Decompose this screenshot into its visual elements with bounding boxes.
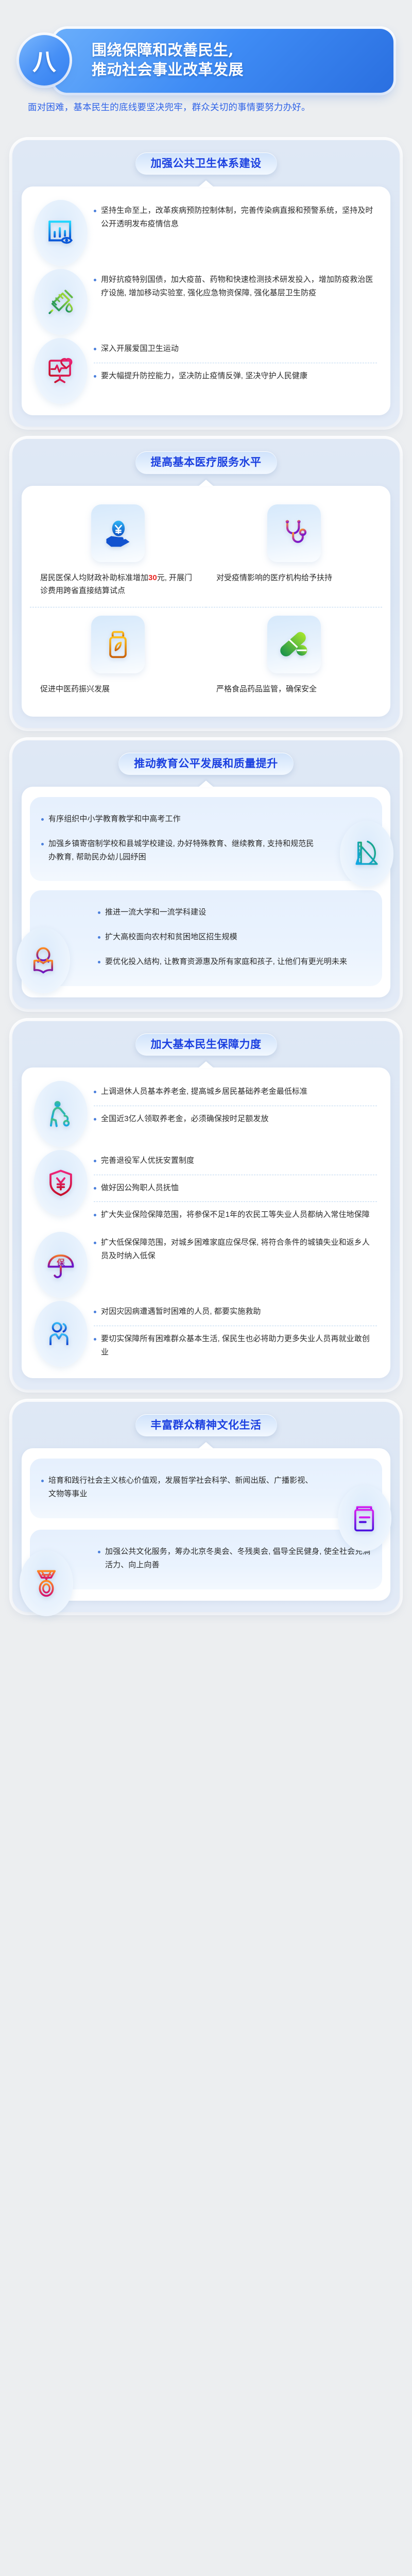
page-title-line1: 围绕保障和改善民生, bbox=[92, 41, 244, 60]
bullet: 深入开展爱国卫生运动 bbox=[94, 336, 377, 363]
icon-slot bbox=[16, 927, 70, 993]
icon-slot bbox=[30, 1147, 92, 1216]
bullet-dot-icon bbox=[98, 911, 100, 914]
bullet: 做好因公殉职人员抚恤 bbox=[94, 1175, 377, 1202]
infographic-page: 围绕保障和改善民生, 推动社会事业改革发展 八 面对困难，基本民生的底线要坚决兜… bbox=[0, 0, 412, 1630]
bullet-dot-icon bbox=[94, 348, 96, 350]
bullet: 要切实保障所有困难群众基本生活, 保民生也必将助力更多失业人员再就业敢创业 bbox=[94, 1326, 377, 1366]
bullet-dot-icon bbox=[98, 1551, 100, 1553]
cell-text: 对受疫情影响的医疗机构给予扶持 bbox=[213, 571, 375, 585]
page-title: 围绕保障和改善民生, 推动社会事业改革发展 bbox=[92, 41, 244, 79]
education-text-box-a: 有序组织中小学教育教学和中高考工作 加强乡镇寄宿制学校和县城学校建设, 办好特殊… bbox=[30, 797, 382, 881]
bullet-dot-icon bbox=[94, 1187, 96, 1190]
bullet-dot-icon bbox=[94, 1242, 96, 1244]
bullet: 加强乡镇寄宿制学校和县城学校建设, 办好特殊教育、继续教育, 支持和规范民办教育… bbox=[41, 832, 320, 870]
section-education: 推动教育公平发展和质量提升 有序组织中小学教育教学和中高考工作 加强乡镇寄宿制学… bbox=[12, 740, 400, 1009]
item-text-group: 深入开展爱国卫生运动 要大幅提升防控能力，坚决防止疫情反弹, 坚决守护人民健康 bbox=[94, 335, 382, 390]
item-text-group: 对因灾因病遭遇暂时困难的人员, 都要实施救助 要切实保障所有困难群众基本生活, … bbox=[94, 1298, 382, 1366]
bullet-text: 上调退休人员基本养老金, 提高城乡居民基础养老金最低标准 bbox=[101, 1085, 307, 1098]
section-header-pill-5: 丰富群众精神文化生活 bbox=[135, 1414, 277, 1436]
page-header: 围绕保障和改善民生, 推动社会事业改革发展 八 bbox=[0, 0, 412, 93]
section-header-pill-1: 加强公共卫生体系建设 bbox=[135, 152, 277, 175]
bullet-text: 要优化投入结构, 让教育资源惠及所有家庭和孩子, 让他们有更光明未来 bbox=[105, 955, 347, 969]
icon-slot bbox=[340, 821, 393, 887]
list-item: 上调退休人员基本养老金, 提高城乡居民基础养老金最低标准 全国近3亿人领取养老金… bbox=[30, 1078, 382, 1147]
bullet: 扩大高校面向农村和贫困地区招生规模 bbox=[98, 925, 371, 950]
list-item: 保 扩大低保保障范围，对城乡困难家庭应保尽保, 将符合条件的城镇失业和返乡人员及… bbox=[30, 1229, 382, 1298]
medicine-bottle-herb-icon bbox=[91, 616, 145, 673]
icon-slot bbox=[20, 1550, 73, 1616]
bullet: 完善退役军人优抚安置制度 bbox=[94, 1148, 377, 1175]
bullet-text: 要切实保障所有困难群众基本生活, 保民生也必将助力更多失业人员再就业敢创业 bbox=[101, 1332, 377, 1359]
cell-text: 居民医保人均财政补助标准增加30元, 开展门诊费用跨省直接结算试点 bbox=[37, 571, 199, 598]
section-title-3: 推动教育公平发展和质量提升 bbox=[134, 757, 278, 769]
bullet-text: 全国近3亿人领取养老金，必须确保按时足额发放 bbox=[101, 1112, 269, 1126]
bullet-dot-icon bbox=[94, 1214, 96, 1216]
section-panel-3: 有序组织中小学教育教学和中高考工作 加强乡镇寄宿制学校和县城学校建设, 办好特殊… bbox=[22, 787, 390, 997]
list-item: 完善退役军人优抚安置制度 做好因公殉职人员抚恤 扩大失业保险保障范围，将参保不足… bbox=[30, 1147, 382, 1229]
bullet-dot-icon bbox=[41, 843, 44, 845]
two-people-icon bbox=[34, 1301, 88, 1367]
section-header-pill-4: 加大基本民生保障力度 bbox=[135, 1033, 277, 1056]
bullet-dot-icon bbox=[94, 1160, 96, 1162]
icon-slot bbox=[30, 197, 92, 266]
section-header-pill-2: 提高基本医疗服务水平 bbox=[135, 451, 277, 473]
bullet-text: 加强公共文化服务，筹办北京冬奥会、冬残奥会, 倡导全民健身, 使全社会充满活力、… bbox=[105, 1545, 371, 1572]
book-document-icon bbox=[338, 1485, 391, 1551]
bullet: 要大幅提升防控能力，坚决防止疫情反弹, 坚决守护人民健康 bbox=[94, 363, 377, 390]
education-block-a: 有序组织中小学教育教学和中高考工作 加强乡镇寄宿制学校和县城学校建设, 办好特殊… bbox=[30, 797, 382, 881]
intro-paragraph: 面对困难，基本民生的底线要坚决兜牢，群众关切的事情要努力办好。 bbox=[0, 96, 412, 128]
hand-holding-yuan-icon bbox=[91, 504, 145, 562]
section-livelihood-guarantee: 加大基本民生保障力度 bbox=[12, 1021, 400, 1389]
bullet-text: 有序组织中小学教育教学和中高考工作 bbox=[48, 812, 181, 826]
icon-slot: 保 bbox=[30, 1229, 92, 1298]
bullet-dot-icon bbox=[94, 210, 96, 212]
section-title-4: 加大基本民生保障力度 bbox=[151, 1038, 262, 1050]
grid-cell: 严格食品药品监管，确保安全 bbox=[206, 607, 382, 705]
bullet: 坚持生命至上，改革疾病预防控制体制，完善传染病直报和预警系统，坚持及时公开透明发… bbox=[94, 198, 377, 238]
stethoscope-icon bbox=[267, 504, 321, 562]
bullet-text: 对因灾因病遭遇暂时困难的人员, 都要实施救助 bbox=[101, 1305, 261, 1318]
svg-text:保: 保 bbox=[56, 1258, 65, 1267]
education-block-b: 推进一流大学和一流学科建设 扩大高校面向农村和贫困地区招生规模 要优化投入结构,… bbox=[30, 890, 382, 986]
pointer-notch bbox=[198, 1061, 214, 1068]
bullet: 要优化投入结构, 让教育资源惠及所有家庭和孩子, 让他们有更光明未来 bbox=[98, 950, 371, 975]
bullet-text: 深入开展爱国卫生运动 bbox=[101, 342, 179, 355]
bullet-text: 扩大低保保障范围，对城乡困难家庭应保尽保, 将符合条件的城镇失业和返乡人员及时纳… bbox=[101, 1236, 377, 1263]
section-title-1: 加强公共卫生体系建设 bbox=[151, 157, 262, 169]
student-reading-book-icon bbox=[16, 927, 70, 993]
education-text-box-b: 推进一流大学和一流学科建设 扩大高校面向农村和贫困地区招生规模 要优化投入结构,… bbox=[30, 890, 382, 986]
highlight-value: 30 bbox=[148, 573, 157, 582]
pointer-notch bbox=[198, 480, 214, 486]
section-number-text: 八 bbox=[32, 43, 56, 77]
bullet-text: 加强乡镇寄宿制学校和县城学校建设, 办好特殊教育、继续教育, 支持和规范民办教育… bbox=[48, 837, 320, 864]
bullet: 扩大失业保险保障范围，将参保不足1年的农民工等失业人员都纳入常住地保障 bbox=[94, 1201, 377, 1229]
page-title-line2: 推动社会事业改革发展 bbox=[92, 60, 244, 80]
bullet-dot-icon bbox=[94, 1338, 96, 1341]
culture-block-a: 培育和践行社会主义核心价值观，发展哲学社会科学、新闻出版、广播影视、文物等事业 bbox=[30, 1459, 382, 1518]
bullet-text: 做好因公殉职人员抚恤 bbox=[101, 1181, 179, 1195]
bullet-text: 要大幅提升防控能力，坚决防止疫情反弹, 坚决守护人民健康 bbox=[101, 369, 307, 383]
bullet-dot-icon bbox=[94, 375, 96, 378]
bullet-dot-icon bbox=[94, 279, 96, 281]
culture-text-box-b: 加强公共文化服务，筹办北京冬奥会、冬残奥会, 倡导全民健身, 使全社会充满活力、… bbox=[30, 1530, 382, 1589]
umbrella-bao-icon: 保 bbox=[34, 1232, 88, 1298]
bullet-text: 扩大失业保险保障范围，将参保不足1年的农民工等失业人员都纳入常住地保障 bbox=[101, 1208, 370, 1222]
grid-cell: 对受疫情影响的医疗机构给予扶持 bbox=[206, 496, 382, 607]
grid-cell: 促进中医药振兴发展 bbox=[30, 607, 206, 705]
icon-slot bbox=[338, 1485, 391, 1551]
section-title-2: 提高基本医疗服务水平 bbox=[151, 456, 262, 468]
section-panel-4: 上调退休人员基本养老金, 提高城乡居民基础养老金最低标准 全国近3亿人领取养老金… bbox=[22, 1067, 390, 1378]
bullet: 加强公共文化服务，筹办北京冬奥会、冬残奥会, 倡导全民健身, 使全社会充满活力、… bbox=[98, 1540, 371, 1578]
item-text-group: 扩大低保保障范围，对城乡困难家庭应保尽保, 将符合条件的城镇失业和返乡人员及时纳… bbox=[94, 1229, 382, 1270]
icon-slot bbox=[30, 266, 92, 335]
bullet-text: 推进一流大学和一流学科建设 bbox=[105, 906, 206, 919]
bullet-dot-icon bbox=[94, 1311, 96, 1313]
section-public-health: 加强公共卫生体系建设 bbox=[12, 140, 400, 427]
section-panel-1: 坚持生命至上，改革疾病预防控制体制，完善传染病直报和预警系统，坚持及时公开透明发… bbox=[22, 187, 390, 415]
bullet: 扩大低保保障范围，对城乡困难家庭应保尽保, 将符合条件的城镇失业和返乡人员及时纳… bbox=[94, 1230, 377, 1270]
pointer-notch bbox=[198, 1442, 214, 1449]
bullet-dot-icon bbox=[41, 818, 44, 821]
shield-yuan-icon bbox=[34, 1150, 88, 1216]
ruler-protractor-icon bbox=[340, 821, 393, 887]
bullet-text: 完善退役军人优抚安置制度 bbox=[101, 1154, 194, 1167]
icon-slot bbox=[30, 335, 92, 404]
bullet: 上调退休人员基本养老金, 提高城乡居民基础养老金最低标准 bbox=[94, 1079, 377, 1106]
bullet: 推进一流大学和一流学科建设 bbox=[98, 901, 371, 925]
section-number-badge: 八 bbox=[19, 35, 70, 86]
bullet: 用好抗疫特别国债，加大疫苗、药物和快速检测技术研发投入，增加防疫救治医疗设施, … bbox=[94, 267, 377, 307]
section-culture: 丰富群众精神文化生活 培育和践行社会主义核心价值观，发展哲学社会科学、新闻出版、… bbox=[12, 1402, 400, 1612]
bullet-text: 坚持生命至上，改革疾病预防控制体制，完善传染病直报和预警系统，坚持及时公开透明发… bbox=[101, 204, 377, 231]
heartbeat-monitor-icon bbox=[34, 338, 88, 404]
bullet-dot-icon bbox=[98, 961, 100, 963]
section-title-5: 丰富群众精神文化生活 bbox=[151, 1419, 262, 1431]
syringe-vaccine-icon bbox=[34, 269, 88, 335]
list-item: 对因灾因病遭遇暂时困难的人员, 都要实施救助 要切实保障所有困难群众基本生活, … bbox=[30, 1298, 382, 1367]
bullet: 培育和践行社会主义核心价值观，发展哲学社会科学、新闻出版、广播影视、文物等事业 bbox=[41, 1469, 320, 1507]
cell-text: 严格食品药品监管，确保安全 bbox=[213, 683, 375, 696]
bullet-text: 用好抗疫特别国债，加大疫苗、药物和快速检测技术研发投入，增加防疫救治医疗设施, … bbox=[101, 273, 377, 300]
bullet-text: 培育和践行社会主义核心价值观，发展哲学社会科学、新闻出版、广播影视、文物等事业 bbox=[48, 1474, 320, 1501]
medal-award-icon bbox=[20, 1550, 73, 1616]
item-text-group: 用好抗疫特别国债，加大疫苗、药物和快速检测技术研发投入，增加防疫救治医疗设施, … bbox=[94, 266, 382, 307]
bullet-dot-icon bbox=[94, 1091, 96, 1093]
bullet: 全国近3亿人领取养老金，必须确保按时足额发放 bbox=[94, 1106, 377, 1133]
pointer-notch bbox=[198, 781, 214, 787]
health-monitor-chart-eye-icon bbox=[34, 200, 88, 266]
capsule-pill-icon bbox=[267, 616, 321, 673]
bullet-dot-icon bbox=[94, 1118, 96, 1121]
header-title-plate: 围绕保障和改善民生, 推动社会事业改革发展 bbox=[54, 29, 393, 93]
item-text-group: 坚持生命至上，改革疾病预防控制体制，完善传染病直报和预警系统，坚持及时公开透明发… bbox=[94, 197, 382, 238]
culture-text-box-a: 培育和践行社会主义核心价值观，发展哲学社会科学、新闻出版、广播影视、文物等事业 bbox=[30, 1459, 382, 1518]
elderly-walker-icon bbox=[34, 1081, 88, 1147]
section-medical-services: 提高基本医疗服务水平 居民医保人均财 bbox=[12, 439, 400, 727]
bullet-dot-icon bbox=[41, 1480, 44, 1482]
cell-text: 促进中医药振兴发展 bbox=[37, 683, 199, 696]
bullet: 对因灾因病遭遇暂时困难的人员, 都要实施救助 bbox=[94, 1299, 377, 1326]
grid-cell: 居民医保人均财政补助标准增加30元, 开展门诊费用跨省直接结算试点 bbox=[30, 496, 206, 607]
bullet-text: 扩大高校面向农村和贫困地区招生规模 bbox=[105, 930, 237, 944]
icon-slot bbox=[30, 1078, 92, 1147]
section-header-pill-3: 推动教育公平发展和质量提升 bbox=[118, 753, 294, 775]
culture-block-b: 加强公共文化服务，筹办北京冬奥会、冬残奥会, 倡导全民健身, 使全社会充满活力、… bbox=[30, 1530, 382, 1589]
item-text-group: 上调退休人员基本养老金, 提高城乡居民基础养老金最低标准 全国近3亿人领取养老金… bbox=[94, 1078, 382, 1133]
bullet-dot-icon bbox=[98, 936, 100, 939]
item-text-group: 完善退役军人优抚安置制度 做好因公殉职人员抚恤 扩大失业保险保障范围，将参保不足… bbox=[94, 1147, 382, 1229]
icon-slot bbox=[30, 1298, 92, 1367]
section-panel-2: 居民医保人均财政补助标准增加30元, 开展门诊费用跨省直接结算试点 bbox=[22, 486, 390, 717]
list-item: 坚持生命至上，改革疾病预防控制体制，完善传染病直报和预警系统，坚持及时公开透明发… bbox=[30, 197, 382, 266]
pointer-notch bbox=[198, 180, 214, 187]
bullet: 有序组织中小学教育教学和中高考工作 bbox=[41, 807, 320, 832]
list-item: 用好抗疫特别国债，加大疫苗、药物和快速检测技术研发投入，增加防疫救治医疗设施, … bbox=[30, 266, 382, 335]
section-panel-5: 培育和践行社会主义核心价值观，发展哲学社会科学、新闻出版、广播影视、文物等事业 bbox=[22, 1448, 390, 1600]
cell-text-before: 居民医保人均财政补助标准增加 bbox=[40, 573, 148, 582]
list-item: 深入开展爱国卫生运动 要大幅提升防控能力，坚决防止疫情反弹, 坚决守护人民健康 bbox=[30, 335, 382, 404]
